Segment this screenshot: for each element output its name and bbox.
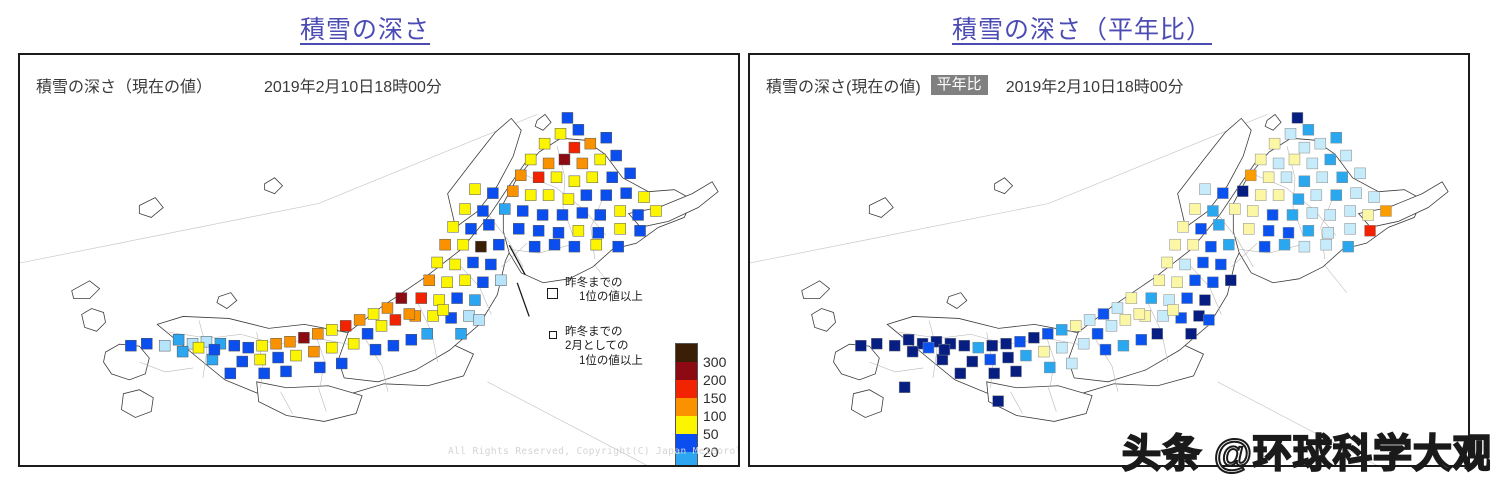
- map-header-right: 積雪の深さ(現在の値) 平年比 2019年2月10日18時00分: [766, 73, 1458, 97]
- map-header-timestamp: 2019年2月10日18時00分: [1006, 73, 1184, 97]
- annotation-rank1-line2: 1位の値以上: [565, 290, 643, 304]
- legend-label-200: 200: [703, 373, 726, 387]
- map-panel-snow-depth-ratio[interactable]: 積雪の深さ(現在の値) 平年比 2019年2月10日18時00分 300 200…: [748, 53, 1470, 467]
- legend-label-150: 150: [703, 391, 726, 405]
- page-title-snow-depth: 積雪の深さ: [300, 10, 430, 46]
- map-panel-snow-depth[interactable]: 積雪の深さ（現在の値） 2019年2月10日18時00分 昨冬までの 1位の値以…: [18, 53, 740, 467]
- screenshot-root: 積雪の深さ 積雪の深さ（平年比）: [0, 0, 1490, 486]
- legend-swatch-100: [676, 398, 697, 416]
- legend-swatch-300: [676, 344, 697, 362]
- annotation-feb-rank1-line3: 1位の値以上: [565, 354, 643, 368]
- status-badge-ratio: 平年比: [931, 75, 988, 96]
- annotation-leader-lines: [20, 55, 738, 465]
- legend-swatch-150: [676, 380, 697, 398]
- page-title-snow-depth-ratio: 積雪の深さ（平年比）: [952, 10, 1212, 46]
- legend-swatch-50: [676, 416, 697, 434]
- legend-label-5: 5: [703, 463, 711, 467]
- annotation-feb-rank1-line1: 昨冬までの: [565, 325, 643, 339]
- annotation-rank1-line1: 昨冬までの: [565, 276, 643, 290]
- watermark: 头条 @环球科学大观: [1122, 423, 1490, 479]
- copyright-notice: All Rights Reserved, Copyright(C) Japan …: [448, 446, 740, 457]
- record-square-icon-feb-rank1: [549, 331, 557, 339]
- legend-label-100: 100: [703, 409, 726, 423]
- annotation-feb-rank1: 昨冬までの 2月としての 1位の値以上: [565, 325, 643, 368]
- map-header-label: 積雪の深さ(現在の値): [766, 73, 921, 97]
- legend-label-300: 300: [703, 355, 726, 369]
- annotation-rank1: 昨冬までの 1位の値以上: [565, 276, 643, 305]
- legend-label-50: 50: [703, 427, 719, 441]
- observation-squares-snow-depth-ratio: [750, 55, 1468, 465]
- annotation-feb-rank1-line2: 2月としての: [565, 339, 643, 353]
- legend-swatch-200: [676, 362, 697, 380]
- record-square-icon-rank1: [547, 288, 558, 299]
